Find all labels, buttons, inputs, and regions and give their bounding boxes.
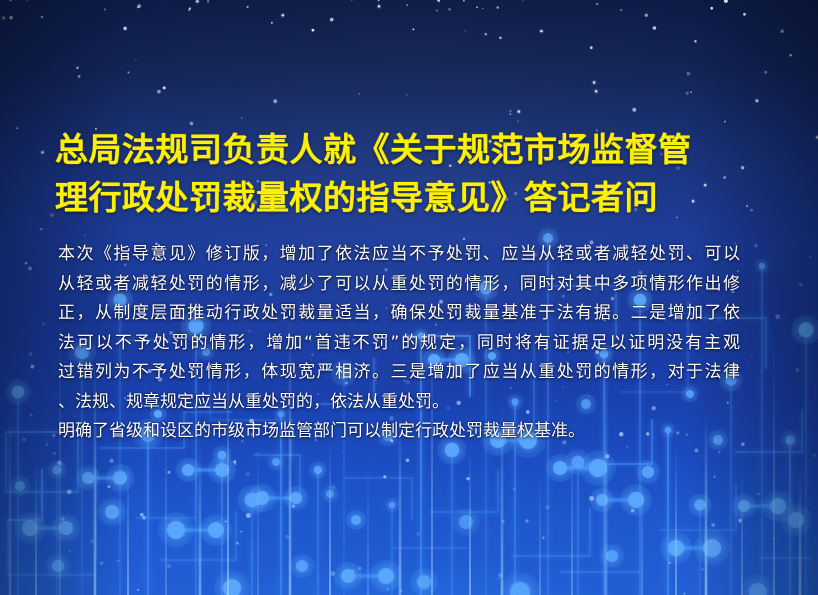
article-body-line: 从轻或者减轻处罚的情形，减少了可以从重处罚的情形，同时对其中多项情形作出修 <box>58 270 740 300</box>
article-body-line: 本次《指导意见》修订版，增加了依法应当不予处罚、应当从轻或者减轻处罚、可以 <box>58 240 740 270</box>
article-body: 本次《指导意见》修订版，增加了依法应当不予处罚、应当从轻或者减轻处罚、可以 从轻… <box>58 240 740 447</box>
article-body-line: 正，从制度层面推动行政处罚裁量适当，确保处罚裁量基准于法有据。二是增加了依 <box>58 299 740 329</box>
article-title: 总局法规司负责人就《关于规范市场监督管 理行政处罚裁量权的指导意见》答记者问 <box>55 126 770 222</box>
article-title-line: 总局法规司负责人就《关于规范市场监督管 <box>55 126 770 174</box>
article-body-line: 过错列为不予处罚情形，体现宽严相济。三是增加了应当从重处罚的情形，对于法律 <box>58 358 740 388</box>
article-body-line: 法可以不予处罚的情形，增加“首违不罚”的规定，同时将有证据足以证明没有主观 <box>58 329 740 359</box>
poster-banner: 总局法规司负责人就《关于规范市场监督管 理行政处罚裁量权的指导意见》答记者问 本… <box>0 0 818 595</box>
article-body-line: 明确了省级和设区的市级市场监管部门可以制定行政处罚裁量权基准。 <box>58 417 740 447</box>
article-title-line: 理行政处罚裁量权的指导意见》答记者问 <box>55 174 770 222</box>
article-body-line: 、法规、规章规定应当从重处罚的，依法从重处罚。 <box>58 388 740 418</box>
